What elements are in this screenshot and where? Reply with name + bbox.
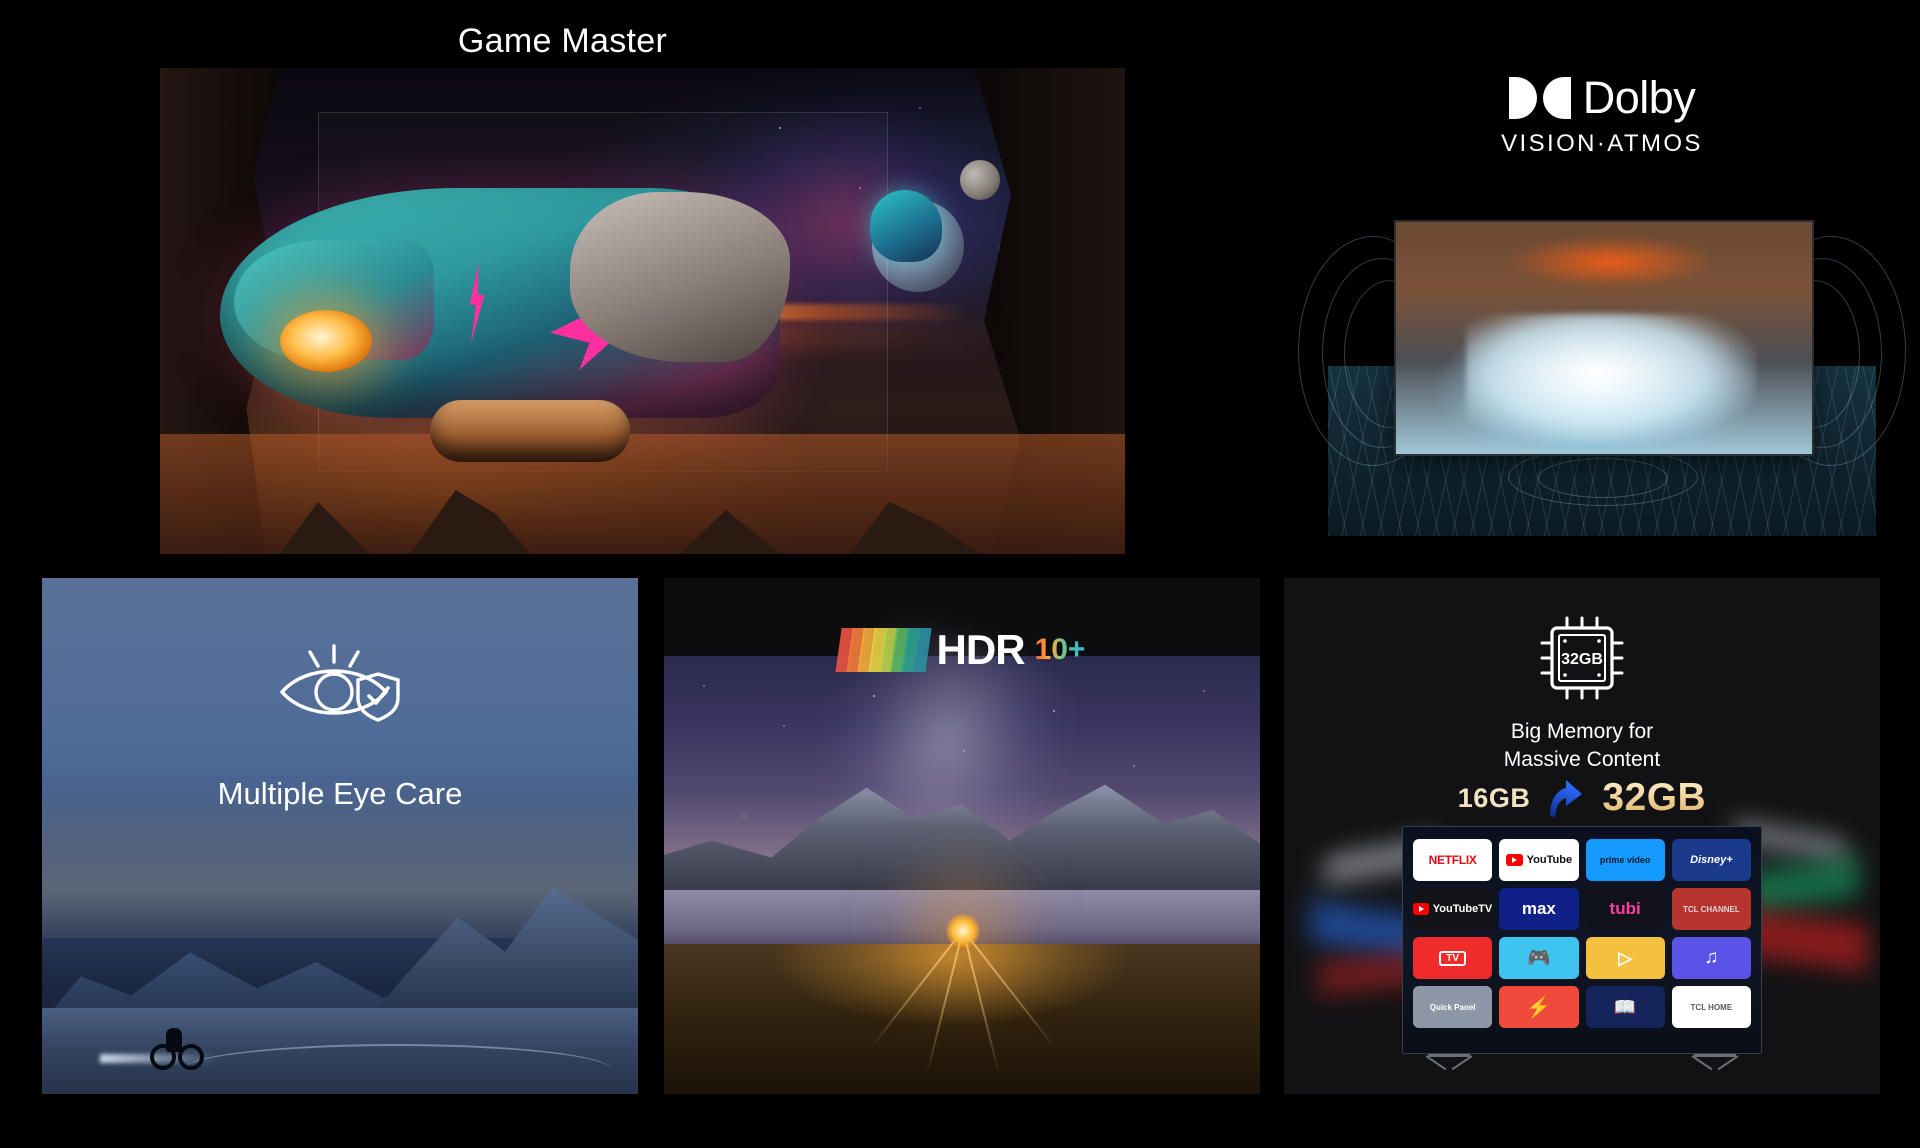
app-tile-label: prime video [1600,855,1651,865]
memory-from-value: 16GB [1458,783,1531,814]
cliff-lichen [1506,236,1716,288]
app-grid: NETFLIXYouTubeprime videoDisney+YouTubeT… [1413,839,1751,1028]
tv-screen: NETFLIXYouTubeprime videoDisney+YouTubeT… [1402,826,1762,1054]
lightning-bolt-icon: ⚡ [1526,995,1551,1020]
app-tile-games[interactable]: 🎮 [1499,937,1578,979]
tv-leg-right [1694,1054,1736,1076]
app-tile-tcl-channel[interactable]: TCL CHANNEL [1672,888,1751,930]
chip-capacity-label: 32GB [1561,651,1603,668]
hdr-suffix: 10+ [1035,633,1086,667]
app-tile-label: YouTubeTV [1433,903,1492,915]
youtube-play-icon [1506,854,1523,866]
game-master-title: Game Master [0,22,1125,61]
dolby-image [1328,196,1876,536]
app-tile-label: max [1522,899,1556,919]
hover-speeder [220,188,780,418]
planet-small [960,160,1000,200]
panel-eye-care: Multiple Eye Care [42,578,638,1094]
panel-game-master: Game Master [0,0,1125,566]
memory-comparison: 16GB 32GB [1284,776,1880,820]
dolby-subtitle: VISION·ATMOS [1284,130,1920,158]
hdr-wordmark: HDR [937,626,1025,674]
app-tile-youtubetv[interactable]: YouTubeTV [1413,888,1492,930]
rock [410,490,530,554]
tv-leg-left [1428,1054,1470,1076]
app-tile-disney-[interactable]: Disney+ [1672,839,1751,881]
eye-care-label: Multiple Eye Care [42,776,638,812]
rock [680,510,780,554]
tv-icon: TV [1439,951,1466,966]
hdr-color-bars [839,628,927,672]
tv-stand [1402,1054,1762,1080]
tv-play-icon: ▷ [1618,948,1632,969]
cyclist-silhouette [150,1024,206,1070]
app-tile-boost[interactable]: ⚡ [1499,986,1578,1028]
app-tile-label: YouTube [1527,854,1572,866]
feature-collage: Game Master [0,0,1920,1148]
app-tile-tubi[interactable]: tubi [1586,888,1665,930]
dolby-tv-screen [1394,220,1814,456]
decal-bolt [468,262,486,344]
app-tile-video[interactable]: ▷ [1586,937,1665,979]
dolby-logo: Dolby VISION·ATMOS [1284,72,1920,158]
music-note-icon: ♫ [1704,947,1718,969]
app-tile-tcl-home[interactable]: TCL HOME [1672,986,1751,1028]
youtube-play-icon [1413,903,1429,915]
dolby-wordmark: Dolby [1583,72,1696,124]
sound-ring-floor [1538,458,1668,498]
memory-to-value: 32GB [1602,776,1706,820]
app-tile-label: NETFLIX [1429,853,1477,867]
app-tile-max[interactable]: max [1499,888,1578,930]
app-tile-label: TCL HOME [1691,1003,1733,1012]
dolby-double-d-icon [1509,77,1571,119]
campfire [946,914,980,948]
app-tile-library[interactable]: 📖 [1586,986,1665,1028]
rocky-shore [664,944,1260,1094]
app-tile-live-tv[interactable]: TV [1413,937,1492,979]
app-tile-music[interactable]: ♫ [1672,937,1751,979]
rider-body [166,1028,182,1052]
speeder-engine [430,400,630,462]
wave-foam [1466,314,1756,444]
gamepad-icon: 🎮 [1527,946,1551,970]
terrain-ground [160,434,1125,554]
speeder-headlight [280,310,372,372]
rider-figure [570,192,790,362]
rock [850,496,980,554]
memory-title-line1: Big Memory for [1284,718,1880,746]
book-icon: 📖 [1614,997,1636,1018]
panel-dolby: Dolby VISION·ATMOS [1284,0,1920,566]
eye-shield-check-icon [274,628,406,736]
app-tile-label: tubi [1610,899,1641,919]
memory-chip-icon: 32GB [1534,610,1630,706]
upward-arrow-icon [1544,776,1588,820]
rider-helmet [870,190,942,262]
app-tile-label: Disney+ [1690,854,1733,866]
app-tile-quick-panel[interactable]: Quick Panel [1413,986,1492,1028]
app-tile-label: TCL CHANNEL [1683,905,1740,914]
hdr10plus-logo: HDR 10+ [839,626,1086,674]
memory-title-line2: Massive Content [1284,746,1880,774]
app-tile-youtube[interactable]: YouTube [1499,839,1578,881]
panel-big-memory: 32GB Big Memory for Massive Content 16GB… [1284,578,1880,1094]
panel-hdr10plus: HDR 10+ [664,578,1260,1094]
memory-title: Big Memory for Massive Content [1284,718,1880,774]
game-master-image [160,68,1125,554]
app-tile-netflix[interactable]: NETFLIX [1413,839,1492,881]
app-tile-prime-video[interactable]: prime video [1586,839,1665,881]
rock [280,502,370,554]
app-tile-label: Quick Panel [1430,1003,1476,1012]
